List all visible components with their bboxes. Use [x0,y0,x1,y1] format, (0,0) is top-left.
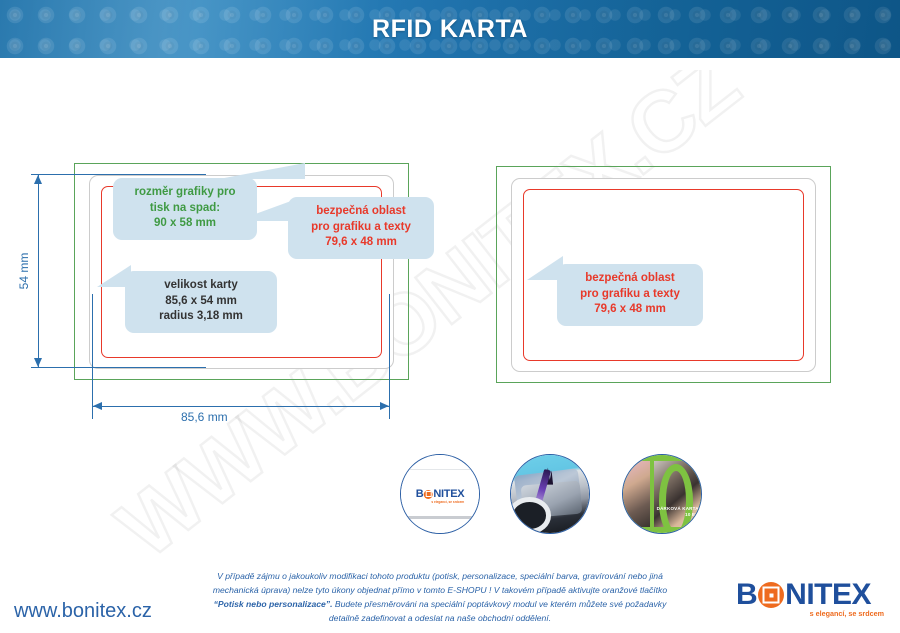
thumb1-top-edge [401,469,479,470]
callout-safe-right: bezpečná oblast pro grafiku a texty 79,6… [557,264,703,326]
callout-bleed-line3: 90 x 58 mm [124,216,246,232]
footer-note-line3-rest: Budete přesměrováni na speciální poptávk… [333,599,667,609]
brand-logo-row: B NITEX [736,580,886,610]
dim-arrow-down-icon [34,358,42,367]
callout-safe-left-tail [236,201,291,221]
thumb3-divider [650,455,655,533]
callout-safe-right-line3: 79,6 x 48 mm [568,302,692,318]
thumb3-photo-left [623,461,650,527]
callout-safe-left: bezpečná oblast pro grafiku a texty 79,6… [288,197,434,259]
callout-bleed-tail [219,163,305,179]
callout-card-size-line2: 85,6 x 54 mm [136,294,266,310]
thumb3-caption-line1: DÁRKOVÁ KARTA [657,506,699,512]
page-header: RFID KARTA [0,0,900,58]
mini-logo-tagline: s elegancí, se srdcem [431,500,464,504]
thumb3-caption-line2: 10 EU [657,512,699,518]
thumbnail-3-image: DÁRKOVÁ KARTA 10 EU [623,455,701,533]
page-title: RFID KARTA [0,0,900,58]
callout-safe-left-line1: bezpečná oblast [299,204,423,220]
site-url[interactable]: www.bonitex.cz [14,600,152,623]
ext-line-left [92,294,93,419]
footer-note-line4: detailně zadefinovat a odeslat na naše o… [150,612,730,626]
footer-note-bold: “Potisk nebo personalizace”. [214,599,333,609]
callout-card-size-line1: velikost karty [136,278,266,294]
thumb3-caption: DÁRKOVÁ KARTA 10 EU [657,506,699,518]
dim-line-horizontal [92,406,390,407]
callout-safe-right-line1: bezpečná oblast [568,271,692,287]
thumbnail-gift-card[interactable]: DÁRKOVÁ KARTA 10 EU [622,454,702,534]
dim-label-height: 54 mm [17,241,31,301]
footer-note-line3: “Potisk nebo personalizace”. Budete přes… [150,598,730,612]
callout-bleed-line1: rozměr grafiky pro [124,185,246,201]
ext-line-top [31,174,206,175]
thumbnail-bonitex-card[interactable]: B NITEX s elegancí, se srdcem [400,454,480,534]
footer-note-line1: V případě zájmu o jakoukoliv modifikaci … [150,570,730,584]
mini-logo-o-icon [424,490,433,499]
callout-card-size-tail [97,265,131,287]
brand-logo-nitex: NITEX [785,581,871,609]
footer-note: V případě zájmu o jakoukoliv modifikaci … [150,570,730,626]
ext-line-right [389,294,390,419]
brand-logo-tagline: s elegancí, se srdcem [810,609,884,618]
mini-logo-nitex: NITEX [433,489,464,499]
callout-safe-left-line3: 79,6 x 48 mm [299,235,423,251]
footer-note-line2: mechanická úprava) nelze tyto úkony obje… [150,584,730,598]
callout-card-size: velikost karty 85,6 x 54 mm radius 3,18 … [125,271,277,333]
dim-label-width: 85,6 mm [181,410,228,424]
brand-logo-o-icon [758,582,784,608]
dim-arrow-left-icon [93,402,102,410]
mini-brand-logo: B NITEX s elegancí, se srdcem [416,489,465,499]
callout-safe-left-line2: pro grafiku a texty [299,220,423,236]
dim-arrow-right-icon [380,402,389,410]
mini-logo-b: B [416,489,424,499]
dim-line-vertical [38,174,39,368]
thumbnail-2-image [511,455,589,533]
callout-card-size-line3: radius 3,18 mm [136,309,266,325]
callout-safe-right-line2: pro grafiku a texty [568,287,692,303]
thumbnail-cards-stack[interactable] [510,454,590,534]
thumb1-logo: B NITEX s elegancí, se srdcem [416,489,465,499]
thumb3-zero-shape [659,464,693,534]
dim-arrow-up-icon [34,175,42,184]
brand-logo[interactable]: B NITEX s elegancí, se srdcem [736,580,886,625]
ext-line-bottom [31,367,206,368]
diagram-canvas: 54 mm 85,6 mm rozměr grafiky pro tisk na… [0,58,900,633]
thumb2-ring [510,497,551,534]
callout-bleed-line2: tisk na spad: [124,201,246,217]
thumbnail-1-image: B NITEX s elegancí, se srdcem [401,455,479,533]
thumb1-bottom-edge [401,516,479,519]
brand-logo-b: B [736,581,757,609]
callout-safe-right-tail [527,256,563,280]
